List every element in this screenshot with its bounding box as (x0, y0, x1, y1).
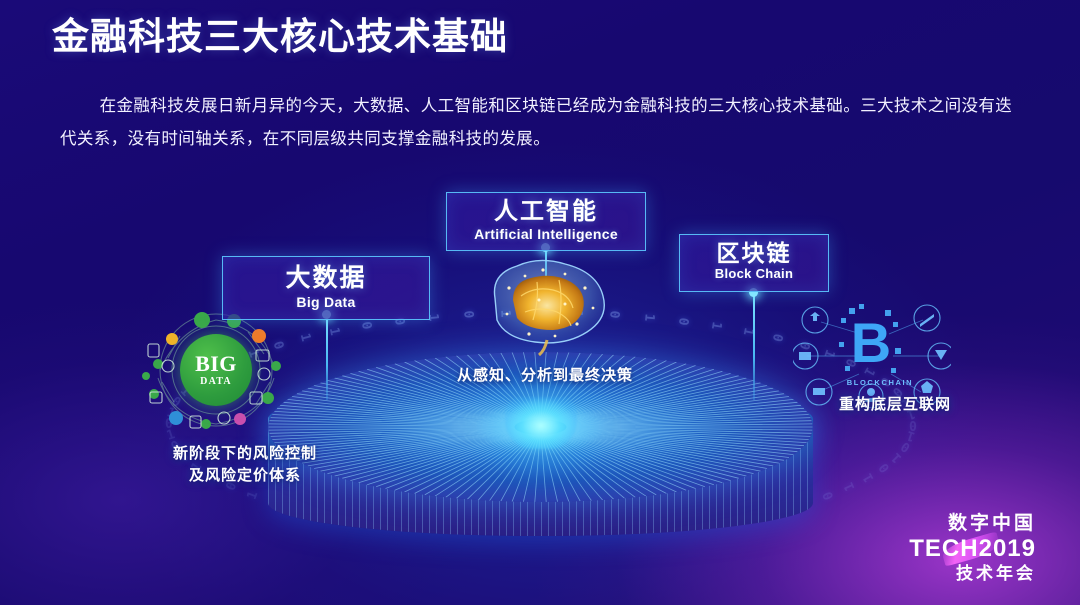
label-box-block-chain[interactable]: 区块链 Block Chain (679, 234, 829, 292)
big-data-illustration: BIG DATA (128, 306, 293, 431)
binary-digit: 1 (842, 480, 859, 493)
caption-ai-line1: 从感知、分析到最终决策 (425, 365, 665, 387)
connector-big-data (326, 314, 328, 400)
logo-line-digital-china: 数字中国 (909, 512, 1036, 536)
binary-digit: 1 (708, 321, 724, 331)
binary-digit: 0 (820, 489, 837, 502)
connector-block-chain (753, 292, 755, 400)
caption-big-data: 新阶段下的风险控制 及风险定价体系 (105, 443, 385, 487)
caption-block-chain-line1: 重构底层互联网 (805, 394, 985, 416)
label-ai-cn: 人工智能 (447, 197, 645, 226)
big-data-badge-line2: DATA (200, 375, 232, 388)
binary-digit: 1 (889, 449, 905, 465)
binary-digit: 0 (358, 321, 374, 331)
label-box-big-data[interactable]: 大数据 Big Data (222, 256, 430, 320)
label-ai-en: Artificial Intelligence (447, 226, 645, 242)
block-chain-illustration: B BLOCKCHAIN (793, 300, 951, 408)
label-box-artificial-intelligence[interactable]: 人工智能 Artificial Intelligence (446, 192, 646, 251)
binary-digit: 1 (641, 313, 657, 322)
logo-tech2019-text: TECH2019 (909, 535, 1036, 562)
brain-icon (473, 252, 623, 356)
page-title: 金融科技三大核心技术基础 (52, 16, 508, 59)
binary-digit: 1 (905, 427, 917, 444)
caption-big-data-line1: 新阶段下的风险控制 (105, 443, 385, 465)
blockchain-wordmark: BLOCKCHAIN (835, 378, 925, 387)
label-block-chain-cn: 区块链 (680, 239, 828, 267)
label-big-data-cn: 大数据 (223, 263, 429, 294)
binary-digit: 1 (245, 489, 262, 502)
logo-line-annual-conference: 技术年会 (909, 563, 1036, 585)
binary-digit: 0 (909, 417, 917, 432)
binary-digit: 1 (861, 470, 878, 484)
intro-paragraph: 在金融科技发展日新月异的今天，大数据、人工智能和区块链已经成为金融科技的三大核心… (60, 90, 1020, 156)
binary-digit: 0 (898, 438, 913, 455)
slide-canvas: 金融科技三大核心技术基础 在金融科技发展日新月异的今天，大数据、人工智能和区块链… (0, 0, 1080, 605)
caption-big-data-line2: 及风险定价体系 (105, 465, 385, 487)
binary-digit: 0 (675, 316, 691, 326)
caption-ai: 从感知、分析到最终决策 (425, 365, 665, 387)
binary-digit: 0 (876, 460, 893, 475)
platform-core-glow (505, 397, 577, 449)
ai-brain-illustration (473, 252, 623, 356)
label-block-chain-en: Block Chain (680, 267, 828, 282)
binary-digit: 0 (769, 332, 785, 343)
big-data-badge: BIG DATA (180, 334, 252, 406)
label-big-data-en: Big Data (223, 294, 429, 311)
big-data-badge-line1: BIG (195, 353, 237, 375)
caption-block-chain: 重构底层互联网 (805, 394, 985, 416)
logo-line-tech2019: TECH2019 (909, 535, 1036, 563)
binary-digit: 1 (297, 332, 313, 343)
block-chain-network-icon: B (793, 300, 951, 408)
event-logo: 数字中国 TECH2019 技术年会 (909, 512, 1036, 585)
binary-digit: 1 (326, 326, 342, 337)
blockchain-b-glyph: B (851, 311, 891, 374)
